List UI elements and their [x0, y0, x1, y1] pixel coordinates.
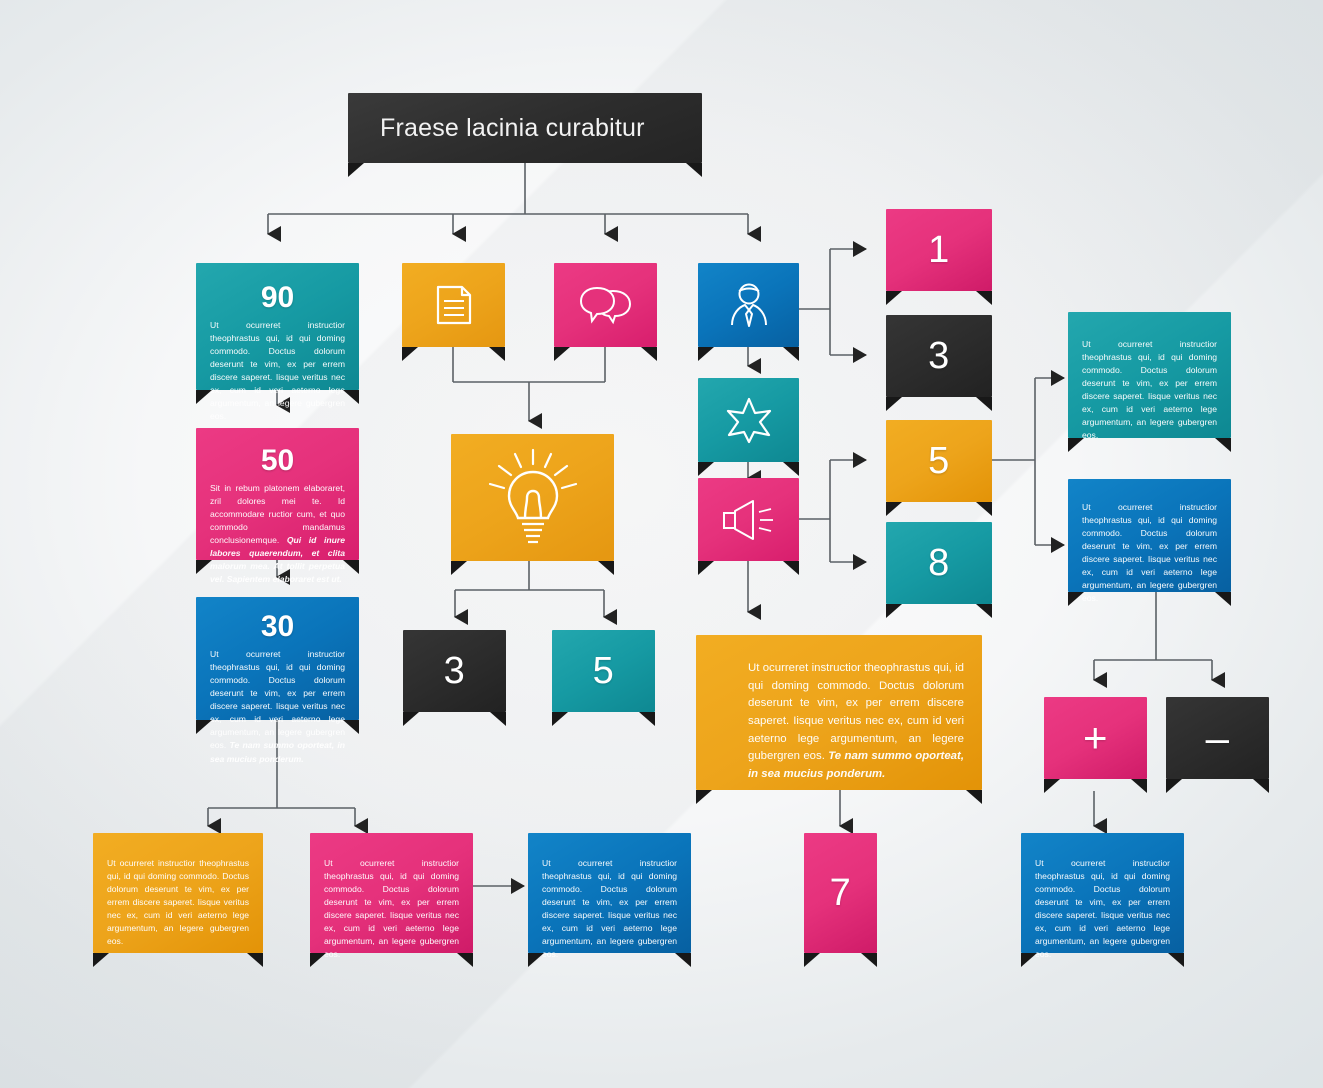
- six-point-star-icon: [698, 378, 799, 462]
- body-text: Ut ocurreret instructior theophrastus qu…: [107, 857, 249, 948]
- body-text-emph: Ut ocurreret instructior theophrastus qu…: [210, 648, 345, 766]
- node-number-8[interactable]: 8: [886, 522, 992, 604]
- node-sign-plus[interactable]: +: [1044, 697, 1147, 779]
- node-icon-megaphone[interactable]: [698, 478, 799, 561]
- number-value: 7: [804, 833, 877, 953]
- speech-bubbles-icon: [554, 263, 657, 347]
- node-icon-note[interactable]: [402, 263, 505, 347]
- node-text-blue-right[interactable]: Ut ocurreret instructior theophrastus qu…: [1068, 479, 1231, 592]
- businessman-icon: [698, 263, 799, 347]
- note-icon: [402, 263, 505, 347]
- page-title: Fraese lacinia curabitur: [348, 93, 702, 163]
- node-bottom-blue-2[interactable]: Ut ocurreret instructior theophrastus qu…: [1021, 833, 1184, 953]
- node-icon-star[interactable]: [698, 378, 799, 462]
- node-icon-chat[interactable]: [554, 263, 657, 347]
- lightbulb-icon: [451, 434, 614, 561]
- number-value: 1: [886, 209, 992, 291]
- node-number-5-mid[interactable]: 5: [552, 630, 655, 712]
- node-bottom-pink[interactable]: Ut ocurreret instructior theophrastus qu…: [310, 833, 473, 953]
- node-number-1[interactable]: 1: [886, 209, 992, 291]
- body-text: Ut ocurreret instructior theophrastus qu…: [210, 319, 345, 424]
- body-text: Ut ocurreret instructior theophrastus qu…: [324, 857, 459, 962]
- body-text: Ut ocurreret instructior theophrastus qu…: [542, 857, 677, 962]
- number-value: 3: [403, 630, 506, 712]
- megaphone-icon: [698, 478, 799, 561]
- fold-corner-right: [686, 163, 702, 177]
- flowchart-canvas: Fraese lacinia curabitur 90 Ut ocurreret…: [0, 0, 1323, 1088]
- minus-icon: –: [1166, 697, 1269, 779]
- node-stat-30[interactable]: 30 Ut ocurreret instructior theophrastus…: [196, 597, 359, 720]
- number-value: 5: [552, 630, 655, 712]
- body-text: Ut ocurreret instructior theophrastus qu…: [1082, 501, 1217, 606]
- body-text: Ut ocurreret instructior theophrastus qu…: [1035, 857, 1170, 962]
- body-text-emph: Ut ocurreret instructior theophrastus qu…: [748, 660, 964, 784]
- number-value: 8: [886, 522, 992, 604]
- node-number-7[interactable]: 7: [804, 833, 877, 953]
- stat-value-30: 30: [196, 610, 359, 644]
- node-bottom-blue[interactable]: Ut ocurreret instructior theophrastus qu…: [528, 833, 691, 953]
- node-number-3-top[interactable]: 3: [886, 315, 992, 397]
- body-text-alt: Sit in rebum platonem elaboraret, zril d…: [210, 482, 345, 587]
- node-text-big-orange[interactable]: Ut ocurreret instructior theophrastus qu…: [696, 635, 982, 790]
- plus-icon: +: [1044, 697, 1147, 779]
- node-number-3-mid[interactable]: 3: [403, 630, 506, 712]
- body-text: Ut ocurreret instructior theophrastus qu…: [1082, 338, 1217, 443]
- diagram-title-box: Fraese lacinia curabitur: [348, 93, 702, 163]
- node-bottom-orange[interactable]: Ut ocurreret instructior theophrastus qu…: [93, 833, 263, 953]
- node-sign-minus[interactable]: –: [1166, 697, 1269, 779]
- number-value: 5: [886, 420, 992, 502]
- fold-corner-left: [348, 163, 364, 177]
- node-text-teal-right[interactable]: Ut ocurreret instructior theophrastus qu…: [1068, 312, 1231, 438]
- number-value: 3: [886, 315, 992, 397]
- stat-value-90: 90: [196, 281, 359, 315]
- node-stat-90[interactable]: 90 Ut ocurreret instructior theophrastus…: [196, 263, 359, 390]
- stat-value-50: 50: [196, 444, 359, 478]
- node-icon-person[interactable]: [698, 263, 799, 347]
- node-number-5-right[interactable]: 5: [886, 420, 992, 502]
- node-icon-lightbulb[interactable]: [451, 434, 614, 561]
- node-stat-50[interactable]: 50 Sit in rebum platonem elaboraret, zri…: [196, 428, 359, 560]
